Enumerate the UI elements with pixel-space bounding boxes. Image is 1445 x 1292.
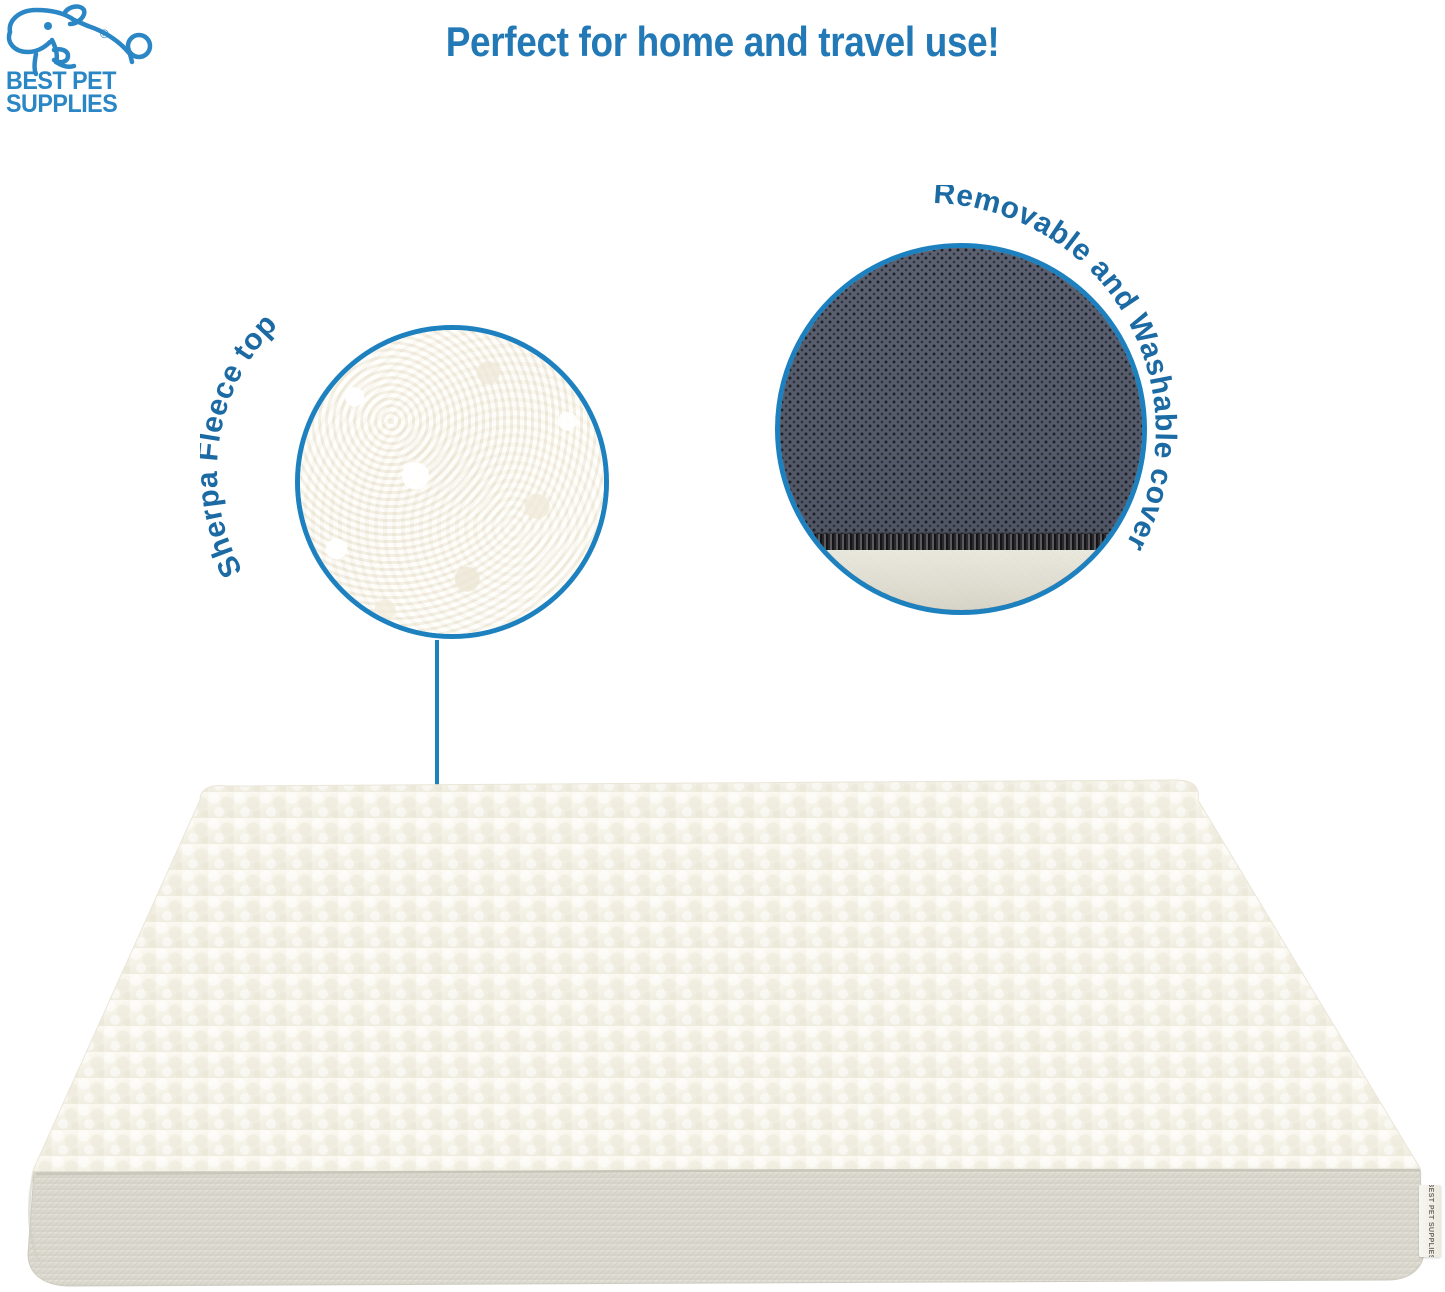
bed-side-panel (28, 1170, 1424, 1286)
product-bed (0, 740, 1445, 1292)
infographic-canvas: ® BEST PET SUPPLIES Perfect for home and… (0, 0, 1445, 1292)
callout-removable-washable-cover: Removable and Washable cover (745, 185, 1215, 655)
product-brand-tag-text: BEST PET SUPPLIES (1426, 1185, 1434, 1257)
inner-fabric (780, 550, 1142, 610)
zipper-icon (780, 534, 1142, 550)
washable-cover-swatch (775, 243, 1147, 615)
bed-top-surface (32, 780, 1421, 1192)
product-brand-tag: BEST PET SUPPLIES (1419, 1185, 1441, 1257)
